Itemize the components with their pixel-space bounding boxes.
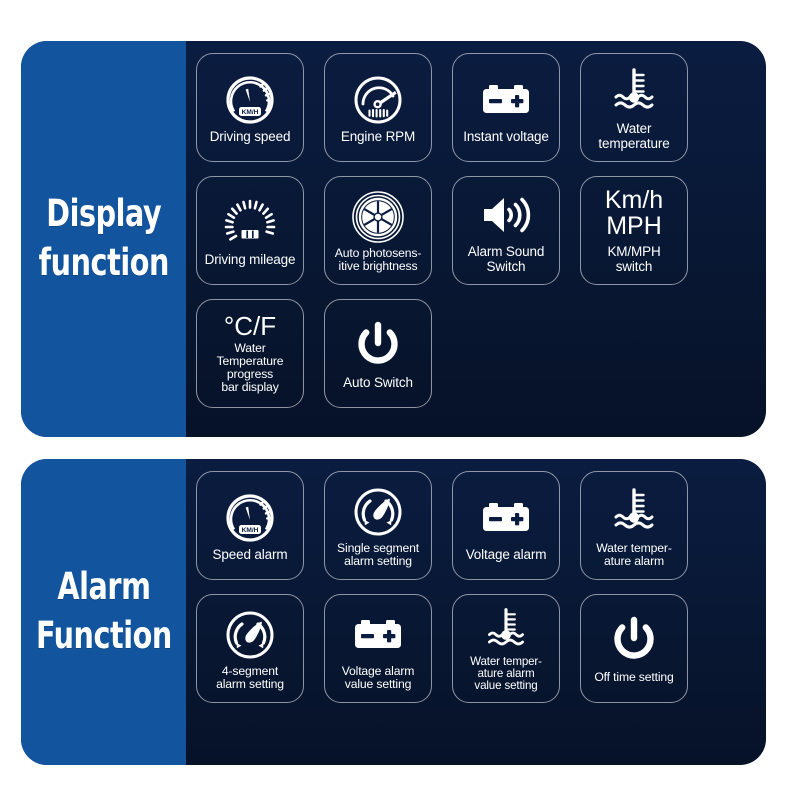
feature-tile-water-temperature-progress-bar[interactable]: °C/F Water Temperature progress bar disp…	[196, 299, 304, 408]
section-label-display-function: Display function	[21, 41, 186, 437]
tachometer-icon	[350, 71, 406, 129]
km-mph-glyph: Km/h MPH	[605, 187, 663, 240]
battery-icon	[478, 489, 534, 547]
feature-tile-voltage-alarm-value-setting[interactable]: Voltage alarm value setting	[324, 594, 432, 703]
feature-tile-voltage-alarm[interactable]: Voltage alarm	[452, 471, 560, 580]
odometer-icon	[222, 194, 278, 252]
feature-tile-caption: 4-segment alarm setting	[216, 665, 284, 691]
section-alarm-function: Alarm Function	[21, 459, 766, 765]
section-label-text: Alarm Function	[36, 563, 172, 661]
feature-tile-caption: Voltage alarm value setting	[342, 665, 415, 691]
feature-tile-caption: Water temperature	[598, 122, 669, 151]
speaker-icon	[478, 186, 534, 244]
feature-tile-instant-voltage[interactable]: Instant voltage	[452, 53, 560, 162]
feature-tile-caption: Engine RPM	[341, 130, 415, 145]
feature-tile-caption: Water temper- ature alarm	[596, 542, 671, 568]
feature-tile-alarm-sound-switch[interactable]: Alarm Sound Switch	[452, 176, 560, 285]
feature-tile-caption: Auto photosens- itive brightness	[335, 247, 422, 273]
svg-text:KM/H: KM/H	[242, 527, 259, 534]
aperture-icon	[351, 188, 405, 246]
feature-grid-alarm-function: KM/H Speed alarm	[186, 459, 766, 765]
feature-tile-engine-rpm[interactable]: Engine RPM	[324, 53, 432, 162]
feature-tile-caption: Instant voltage	[463, 130, 549, 145]
feature-tile-off-time-setting[interactable]: Off time setting	[580, 594, 688, 703]
single-segment-gauge-icon	[351, 483, 405, 541]
feature-overview-page: Display function	[0, 0, 790, 790]
feature-tile-caption: Auto Switch	[343, 376, 413, 391]
section-label-alarm-function: Alarm Function	[21, 459, 186, 765]
feature-tile-caption: KM/MPH switch	[607, 245, 660, 274]
section-label-text: Display function	[38, 190, 168, 288]
feature-row: °C/F Water Temperature progress bar disp…	[196, 299, 752, 408]
feature-tile-km-mph-switch[interactable]: Km/h MPH KM/MPH switch	[580, 176, 688, 285]
feature-tile-caption: Off time setting	[594, 671, 673, 684]
battery-icon	[478, 71, 534, 129]
water-temperature-icon	[606, 63, 662, 121]
feature-grid-display-function: KM/H Driving speed	[186, 41, 766, 437]
feature-tile-speed-alarm[interactable]: KM/H Speed alarm	[196, 471, 304, 580]
celsius-fahrenheit-glyph: °C/F	[224, 313, 276, 340]
feature-tile-caption: Alarm Sound Switch	[468, 245, 544, 274]
feature-row: KM/H Speed alarm	[196, 471, 752, 580]
feature-tile-caption: Water Temperature progress bar display	[217, 342, 284, 394]
feature-tile-water-temperature-alarm-value-setting[interactable]: Water temper- ature alarm value setting	[452, 594, 560, 703]
water-temperature-icon	[606, 483, 662, 541]
power-icon	[610, 612, 658, 670]
single-segment-gauge-icon	[223, 606, 277, 664]
feature-row: Driving mileage	[196, 176, 752, 285]
feature-tile-caption: Speed alarm	[213, 548, 288, 563]
water-temperature-icon	[480, 605, 532, 655]
feature-tile-auto-switch[interactable]: Auto Switch	[324, 299, 432, 408]
feature-tile-single-segment-alarm-setting[interactable]: Single segment alarm setting	[324, 471, 432, 580]
feature-tile-4-segment-alarm-setting[interactable]: 4-segment alarm setting	[196, 594, 304, 703]
speedometer-icon: KM/H	[222, 71, 278, 129]
feature-tile-caption: Water temper- ature alarm value setting	[470, 656, 542, 693]
feature-tile-driving-speed[interactable]: KM/H Driving speed	[196, 53, 304, 162]
feature-row: 4-segment alarm setting Voltage a	[196, 594, 752, 703]
battery-icon	[350, 606, 406, 664]
power-icon	[354, 317, 402, 375]
speedometer-icon: KM/H	[222, 489, 278, 547]
feature-tile-water-temperature-alarm[interactable]: Water temper- ature alarm	[580, 471, 688, 580]
feature-row: KM/H Driving speed	[196, 53, 752, 162]
feature-tile-caption: Voltage alarm	[466, 548, 547, 563]
feature-tile-driving-mileage[interactable]: Driving mileage	[196, 176, 304, 285]
section-display-function: Display function	[21, 41, 766, 437]
feature-tile-caption: Single segment alarm setting	[337, 542, 419, 568]
feature-tile-auto-photosensitive-brightness[interactable]: Auto photosens- itive brightness	[324, 176, 432, 285]
svg-text:KM/H: KM/H	[242, 109, 259, 116]
feature-tile-caption: Driving speed	[210, 130, 291, 145]
feature-tile-water-temperature[interactable]: Water temperature	[580, 53, 688, 162]
feature-tile-caption: Driving mileage	[205, 253, 296, 268]
